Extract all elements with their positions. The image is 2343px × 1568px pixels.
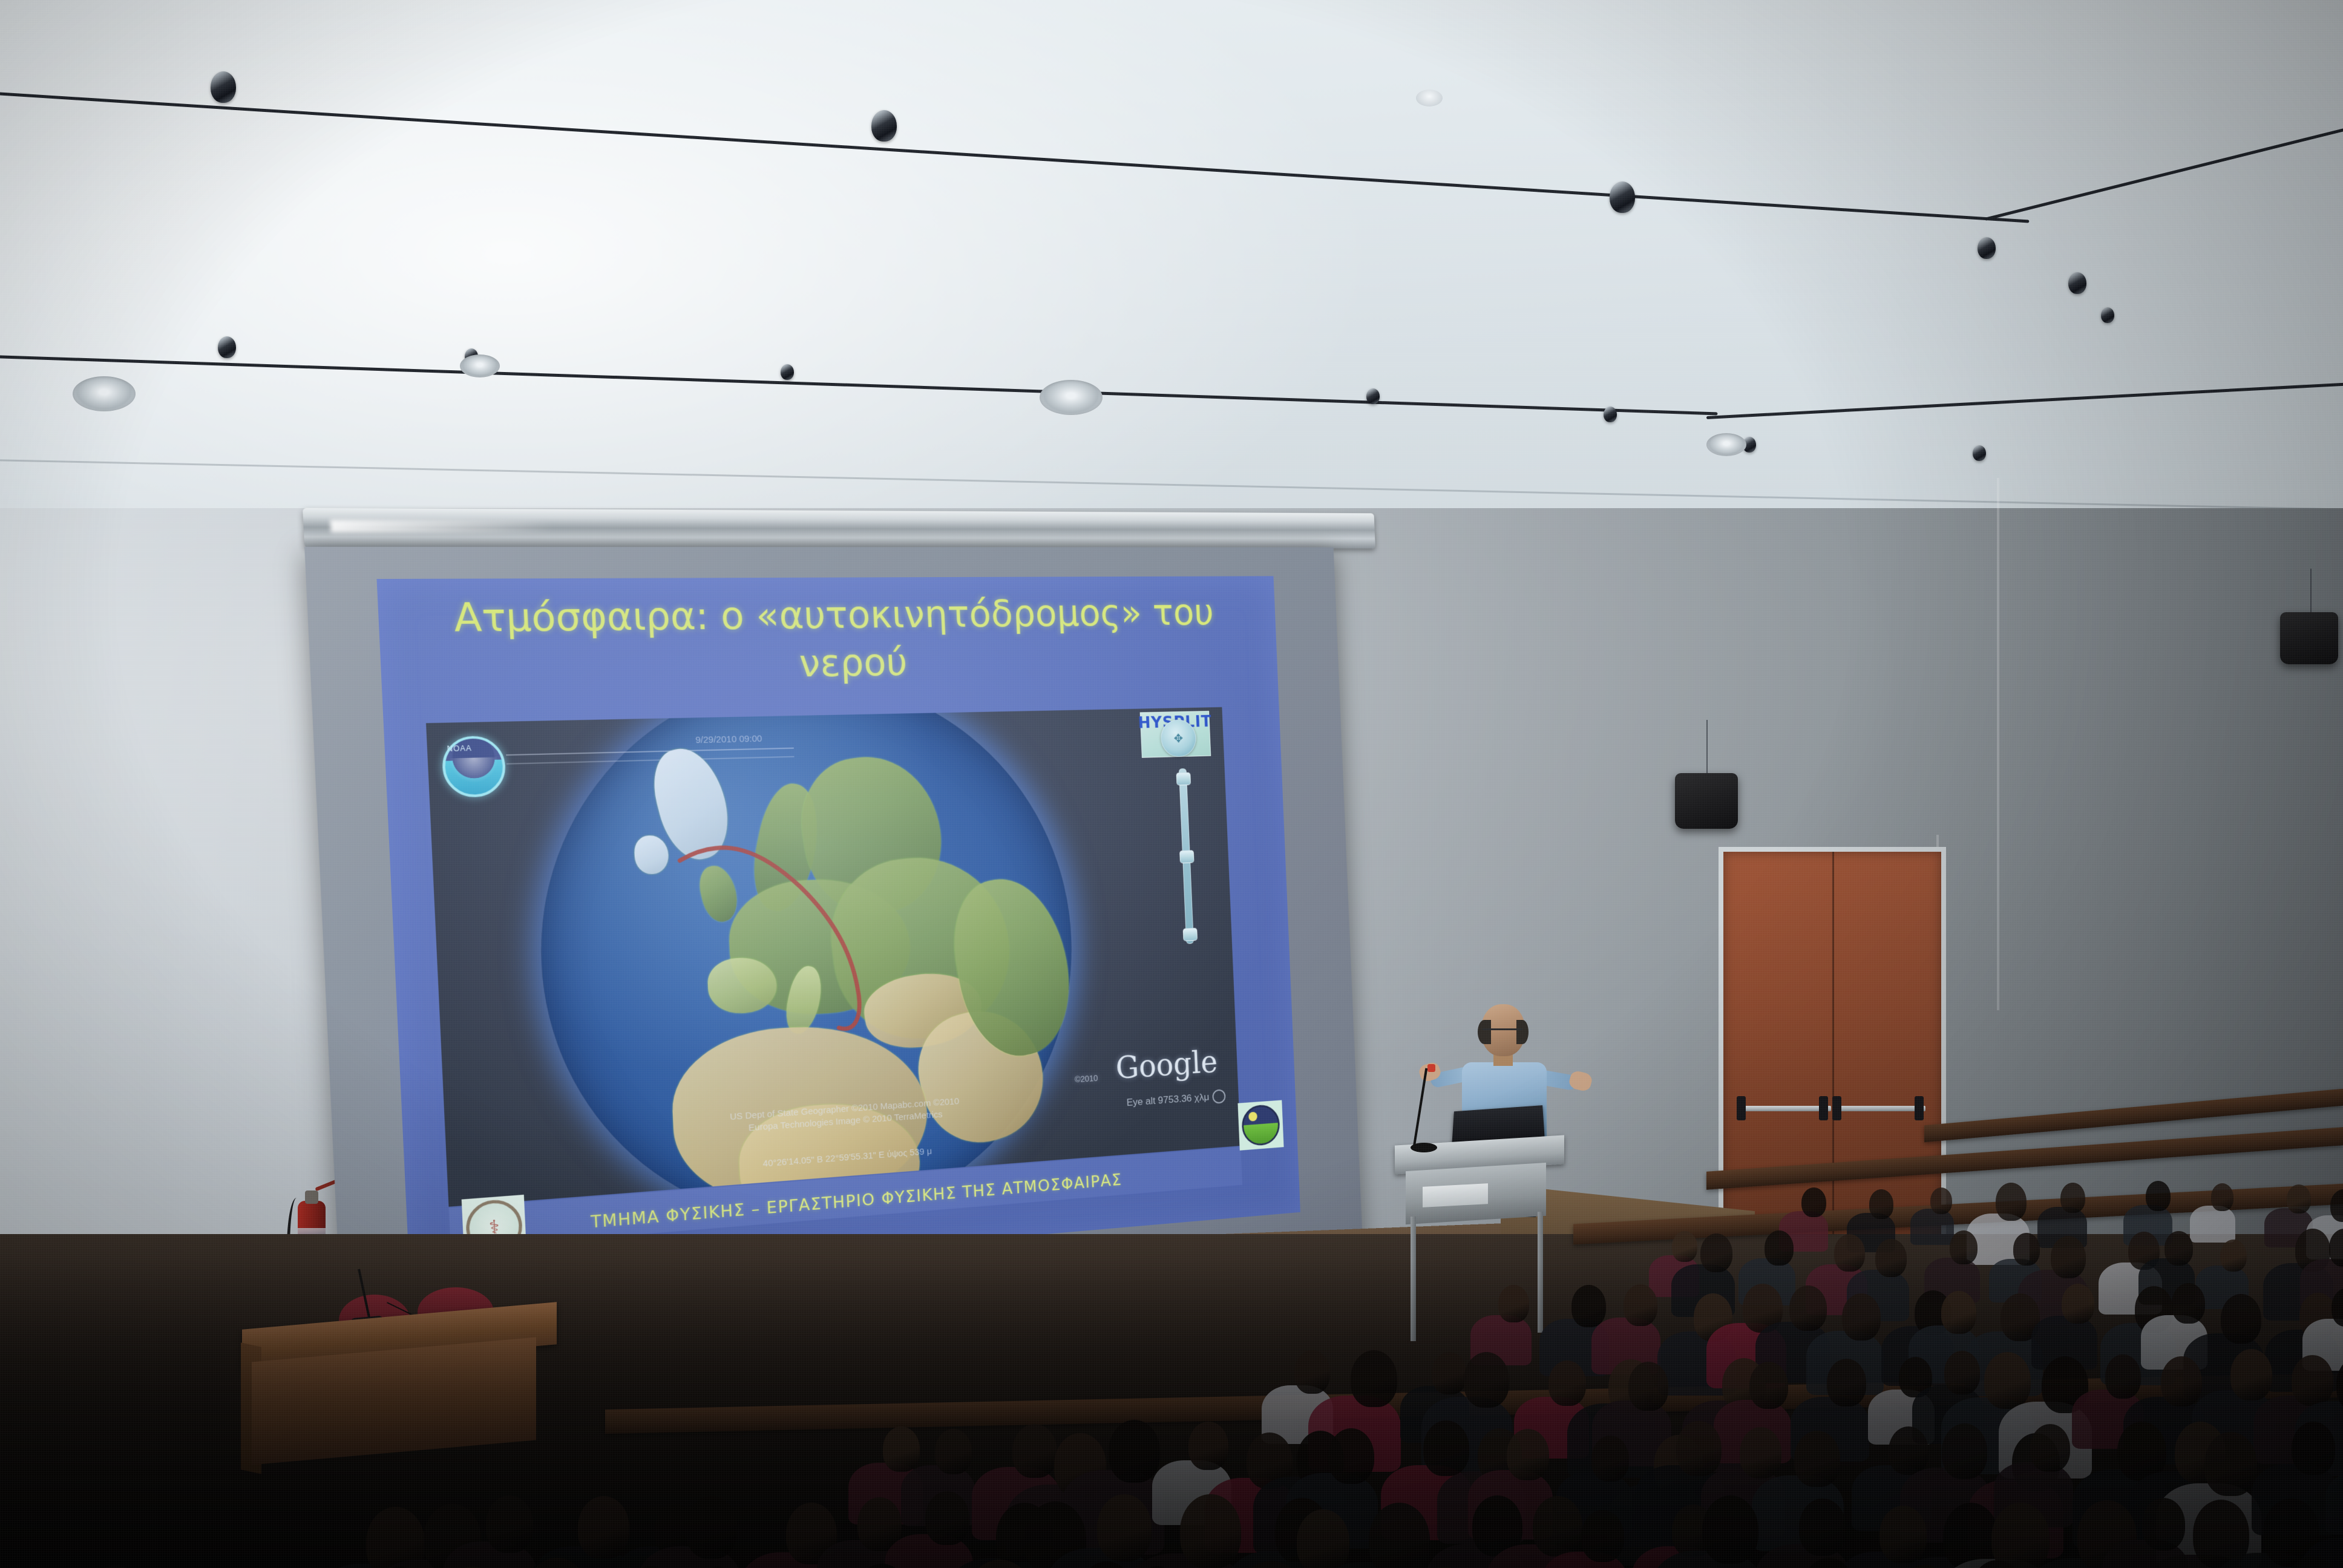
earth-globe: [528, 707, 1083, 1207]
smoke-detector-icon: [1416, 90, 1443, 106]
eye-altitude-readout: Eye alt 9753.36 χλμ: [1126, 1091, 1209, 1109]
pan-joystick-icon[interactable]: ✥: [1160, 719, 1197, 757]
audience-member-head: [1991, 1503, 2050, 1568]
lectern-leg: [1538, 1212, 1543, 1333]
projection-screen: Ατμόσφαιρα: ο «αυτοκινητόδρομος» του νερ…: [304, 547, 1363, 1353]
audience-member-head: [486, 1495, 533, 1553]
speaker-hanging-wire: [1706, 720, 1708, 780]
lectern-name-plate: [1423, 1183, 1488, 1207]
ceiling-spotlight-icon: [2101, 307, 2114, 323]
ceiling-diffuser-icon: [1706, 433, 1746, 456]
door-push-bar-right[interactable]: [1836, 1106, 1925, 1111]
hysplit-trajectory: [528, 707, 1083, 1207]
audience-member-head: [1498, 1285, 1529, 1322]
audience-member-head: [1943, 1503, 1999, 1568]
audience-member-head: [2030, 1424, 2069, 1472]
audience-member-head: [935, 1429, 972, 1474]
audience-member-head: [1180, 1494, 1240, 1568]
lecture-hall-photo: Ατμόσφαιρα: ο «αυτοκινητόδρομος» του νερ…: [0, 0, 2343, 1568]
emergency-exit-door[interactable]: [1719, 847, 1946, 1256]
slide-title: Ατμόσφαιρα: ο «αυτοκινητόδρομος» του νερ…: [417, 589, 1245, 694]
microphone-icon: [1427, 1064, 1435, 1072]
zoom-slider-thumb[interactable]: [1179, 850, 1194, 863]
lectern-leg: [1411, 1217, 1416, 1341]
ceiling-spotlight-icon: [871, 110, 897, 142]
door-push-bar-left[interactable]: [1740, 1106, 1831, 1111]
audience-member-head: [1432, 1352, 1466, 1394]
audience-member-head: [1702, 1495, 1758, 1564]
speaker-hanging-wire: [2310, 569, 2312, 617]
audience-member-head: [578, 1496, 629, 1559]
audience-member-head: [1834, 1234, 1865, 1272]
zoom-slider-minus-handle[interactable]: [1183, 928, 1198, 941]
wall-pilaster-seam: [1997, 478, 1999, 1010]
audience-member-head: [2013, 1233, 2040, 1265]
audience-member-head: [1942, 1423, 1987, 1478]
ceiling-spotlight-icon: [1978, 237, 1996, 259]
audience-member-head: [2172, 1283, 2205, 1324]
audience-member-body: [1910, 1209, 1955, 1245]
audience-member-head: [1996, 1183, 2027, 1221]
zoom-slider-plus-handle[interactable]: [1176, 773, 1191, 786]
ceiling-spotlight-icon: [218, 336, 236, 358]
ceiling-spotlight-icon: [1604, 407, 1617, 422]
audience-member-head: [1328, 1428, 1374, 1485]
ceiling-speaker-far-right: [2280, 612, 2338, 664]
audience-member-head: [925, 1491, 969, 1545]
audience-member-head: [1941, 1291, 1976, 1334]
ceiling-diffuser-icon: [73, 376, 136, 411]
audience-member-head: [2051, 1236, 2086, 1279]
audience-member-head: [2062, 1284, 2094, 1324]
slide-title-line-2: νερού: [419, 635, 1245, 694]
microphone-base: [1411, 1143, 1437, 1152]
audience-member-head: [2060, 1183, 2085, 1213]
audience-member-head: [1930, 1187, 1952, 1214]
landmass-iberia: [707, 956, 778, 1015]
audience-member-head: [1628, 1362, 1668, 1410]
audience-member-head: [2204, 1432, 2257, 1496]
audience-member-head: [2287, 1184, 2311, 1214]
audience-member-head: [1581, 1510, 1624, 1562]
audience-member-head: [1799, 1498, 1846, 1556]
audience-member-head: [1672, 1231, 1697, 1262]
audience-member-head: [1548, 1361, 1586, 1406]
audience-member-head: [2211, 1183, 2233, 1210]
audience-member-head: [1740, 1427, 1782, 1478]
audience-member-head: [1423, 1420, 1469, 1476]
audience-member-head: [1889, 1426, 1928, 1475]
audience-member-head: [1624, 1284, 1658, 1326]
ceiling-spotlight-icon: [1610, 181, 1635, 213]
push-bar-bracket: [1819, 1096, 1828, 1120]
ceiling-diffuser-icon: [1040, 380, 1103, 415]
audience-member-head: [1700, 1233, 1732, 1272]
ceiling-spotlight-icon: [2068, 272, 2086, 294]
audience-member-body: [2190, 1206, 2235, 1243]
lectern[interactable]: [1395, 1140, 1564, 1340]
trajectory-date-stamp: 9/29/2010 09:00: [695, 734, 762, 746]
audience-member-head: [1351, 1350, 1397, 1406]
noaa-logo-icon: [441, 736, 506, 798]
noaa-logo-text: NOAA: [444, 743, 474, 753]
audience-member-head: [1944, 1351, 1980, 1394]
audience-member-head: [1676, 1421, 1721, 1476]
audience-member-head: [1875, 1239, 1907, 1277]
push-bar-bracket: [1737, 1096, 1746, 1120]
audience-member-head: [1294, 1350, 1330, 1394]
audience-member-head: [1464, 1352, 1509, 1408]
ceiling-spotlight-icon: [1366, 388, 1380, 404]
audience-member-head: [2164, 1231, 2193, 1266]
ceiling-spotlight-icon: [781, 364, 794, 380]
ceiling-spotlight-icon: [1973, 445, 1986, 461]
audience-member-head: [1188, 1422, 1228, 1470]
audience-member-head: [1749, 1362, 1788, 1409]
audience-member-head: [883, 1426, 920, 1472]
audience-member-head: [2220, 1240, 2247, 1272]
audience-member-head: [686, 1496, 737, 1559]
audience-member-head: [2142, 1498, 2185, 1550]
audience-member-head: [2292, 1422, 2335, 1475]
landmass-iceland: [634, 835, 669, 875]
audience-member-head: [1109, 1420, 1160, 1483]
audience-member-head: [1794, 1431, 1840, 1486]
google-copyright: ©2010: [1075, 1073, 1098, 1084]
audience-member-head: [1765, 1230, 1793, 1266]
google-logo: ©2010 Google: [1115, 1045, 1219, 1086]
presenter-glasses-icon: [1483, 1028, 1522, 1030]
fire-extinguisher-valve: [305, 1191, 318, 1204]
slide-title-line-1: Ατμόσφαιρα: ο «αυτοκινητόδρομος» του: [417, 589, 1244, 643]
audience-member-head: [1869, 1189, 1893, 1218]
audience-member-head: [1801, 1187, 1826, 1218]
audience-member-head: [1842, 1293, 1881, 1341]
zoom-slider[interactable]: [1179, 768, 1194, 944]
audience-member-head: [1507, 1429, 1549, 1480]
panel-desk[interactable]: [242, 1316, 557, 1497]
landmass-scandinavia: [745, 779, 827, 916]
ceiling-spotlight-icon: [211, 71, 236, 103]
audience-member-head: [1533, 1496, 1582, 1557]
google-earth-viewport[interactable]: NOAA 9/29/2010 09:00 HYSPLIT ✥: [426, 707, 1240, 1207]
presenter-hair-right: [1516, 1020, 1529, 1044]
audience-member-head: [1297, 1509, 1349, 1568]
audience-member-head: [2161, 1356, 2202, 1406]
audience-member-head: [2292, 1355, 2333, 1406]
ceiling-diffuser-icon: [460, 354, 500, 377]
audience-member-head: [1984, 1352, 2031, 1409]
google-wordmark: Google: [1115, 1045, 1219, 1086]
lab-logo-ring: [1241, 1104, 1280, 1147]
audience-member-head: [1827, 1359, 1866, 1406]
ceiling-speaker-right: [1675, 773, 1738, 829]
audience-member-head: [2105, 1354, 2141, 1398]
audience-member-head: [1012, 1424, 1057, 1478]
presenter-hair-left: [1478, 1020, 1491, 1044]
google-earth-status-icon: [1212, 1089, 1226, 1103]
door-center-split: [1832, 852, 1834, 1251]
audience-member-head: [2221, 1294, 2261, 1344]
screen-roller-housing[interactable]: [303, 508, 1375, 549]
atmospheric-lab-logo-icon: [1237, 1100, 1283, 1151]
lab-logo-sun-icon: [1248, 1112, 1257, 1122]
push-bar-bracket: [1915, 1096, 1924, 1120]
audience-member-head: [1097, 1494, 1152, 1561]
audience-member-head: [1879, 1506, 1927, 1563]
landmass-italy: [781, 963, 827, 1037]
audience-member-head: [1591, 1436, 1629, 1481]
audience-member-head: [1789, 1285, 1826, 1331]
audience-member-head: [1950, 1230, 1978, 1264]
audience-member-head: [1571, 1285, 1606, 1327]
push-bar-bracket: [1832, 1096, 1841, 1120]
audience-member-head: [2230, 1349, 2272, 1400]
audience-member-head: [2146, 1181, 2171, 1211]
